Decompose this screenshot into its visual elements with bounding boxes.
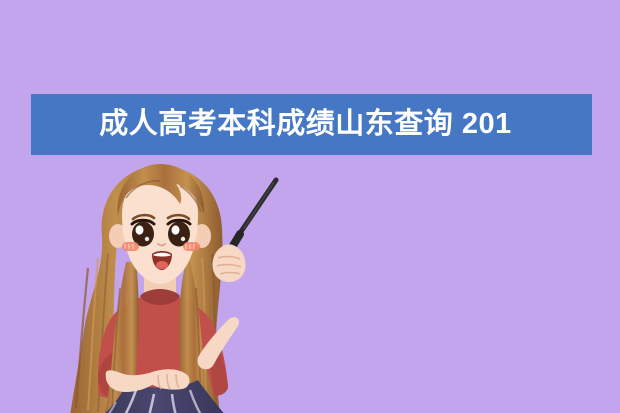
illustration-svg bbox=[40, 158, 280, 413]
page-title: 成人高考本科成绩山东查询 201 bbox=[99, 110, 511, 139]
cartoon-girl-illustration bbox=[40, 158, 280, 413]
thumbnail-canvas: 成人高考本科成绩山东查询 201 bbox=[0, 0, 620, 413]
title-banner: 成人高考本科成绩山东查询 201 bbox=[31, 94, 592, 155]
pointer-stick bbox=[228, 180, 276, 254]
